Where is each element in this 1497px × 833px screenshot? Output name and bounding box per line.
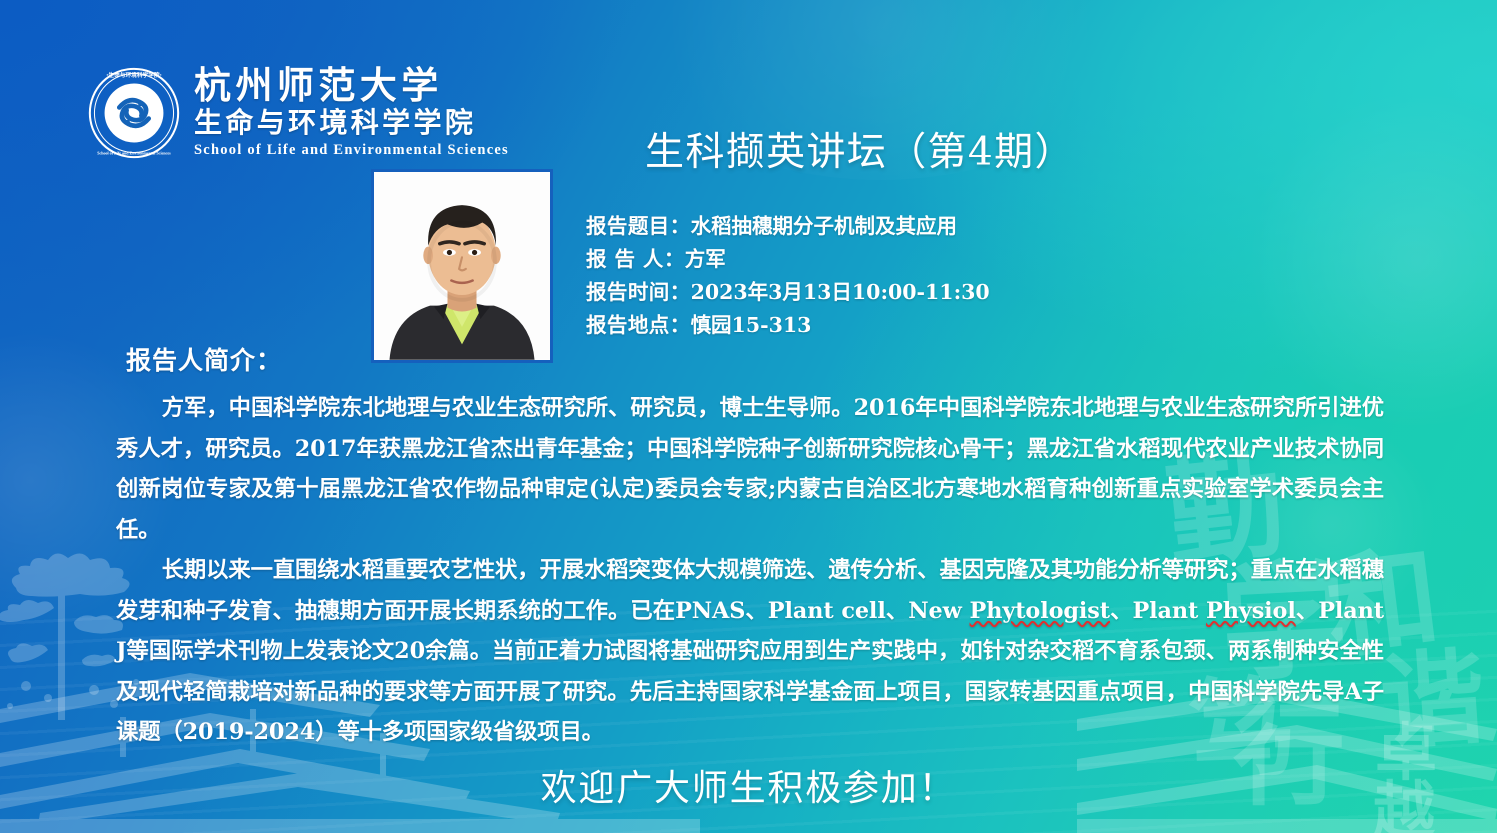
university-seal-icon: ·生命与环境科学学院· School of Life and Environme… (88, 67, 180, 159)
info-label-time: 报告时间： (586, 280, 691, 304)
info-row-topic: 报告题目：水稻抽穗期分子机制及其应用 (586, 210, 990, 243)
info-value-topic: 水稻抽穗期分子机制及其应用 (691, 214, 958, 238)
svg-text:School of Life and Environment: School of Life and Environmental Science… (97, 150, 171, 155)
speaker-photo (371, 169, 553, 363)
logo-college-name: 生命与环境科学学院 (194, 107, 509, 139)
watermark-char-xie: 谐 (1377, 644, 1488, 755)
footer-call-to-action: 欢迎广大师生积极参加！ (0, 759, 1497, 811)
info-label-speaker: 报 告 人： (586, 247, 685, 271)
speaker-portrait-image (374, 172, 550, 360)
bio-paragraph-1: 方军，中国科学院东北地理与农业生态研究所、研究员，博士生导师。2016年中国科学… (116, 388, 1384, 550)
info-value-location: 慎园15-313 (691, 313, 812, 337)
info-value-speaker: 方军 (685, 247, 726, 271)
info-row-location: 报告地点：慎园15-313 (586, 309, 990, 342)
info-row-speaker: 报 告 人：方军 (586, 243, 990, 276)
logo-university-name: 杭州师范大学 (194, 66, 509, 105)
seminar-poster: 勤 学 和 谐 笃 行 卓 越 ·生命与环境科学学院· School of Li… (0, 0, 1497, 833)
info-value-time: 2023年3月13日10:00-11:30 (691, 280, 990, 304)
bio-p1-text: 方军，中国科学院东北地理与农业生态研究所、研究员，博士生导师。2016年中国科学… (116, 395, 1384, 543)
bio-misspelled-phytologist: Phytologist (970, 598, 1110, 624)
info-label-location: 报告地点： (586, 313, 691, 337)
bio-p2-text-b: 、Plant (1110, 598, 1206, 624)
page-title: 生科撷英讲坛（第4期） (645, 121, 1075, 177)
speaker-bio-text: 方军，中国科学院东北地理与农业生态研究所、研究员，博士生导师。2016年中国科学… (116, 388, 1384, 753)
svg-text:·生命与环境科学学院·: ·生命与环境科学学院· (106, 71, 162, 79)
speaker-bio-heading: 报告人简介： (126, 341, 282, 377)
logo-school-english: School of Life and Environmental Science… (194, 142, 509, 159)
bio-paragraph-2: 长期以来一直围绕水稻重要农艺性状，开展水稻突变体大规模筛选、遗传分析、基因克隆及… (116, 550, 1384, 753)
poster-header: ·生命与环境科学学院· School of Life and Environme… (0, 0, 1497, 180)
bio-misspelled-physiol: Physiol (1206, 598, 1296, 624)
info-label-topic: 报告题目： (586, 214, 691, 238)
university-logo: ·生命与环境科学学院· School of Life and Environme… (88, 66, 509, 159)
seminar-info-block: 报告题目：水稻抽穗期分子机制及其应用 报 告 人：方军 报告时间：2023年3月… (586, 210, 990, 342)
info-row-time: 报告时间：2023年3月13日10:00-11:30 (586, 276, 990, 309)
